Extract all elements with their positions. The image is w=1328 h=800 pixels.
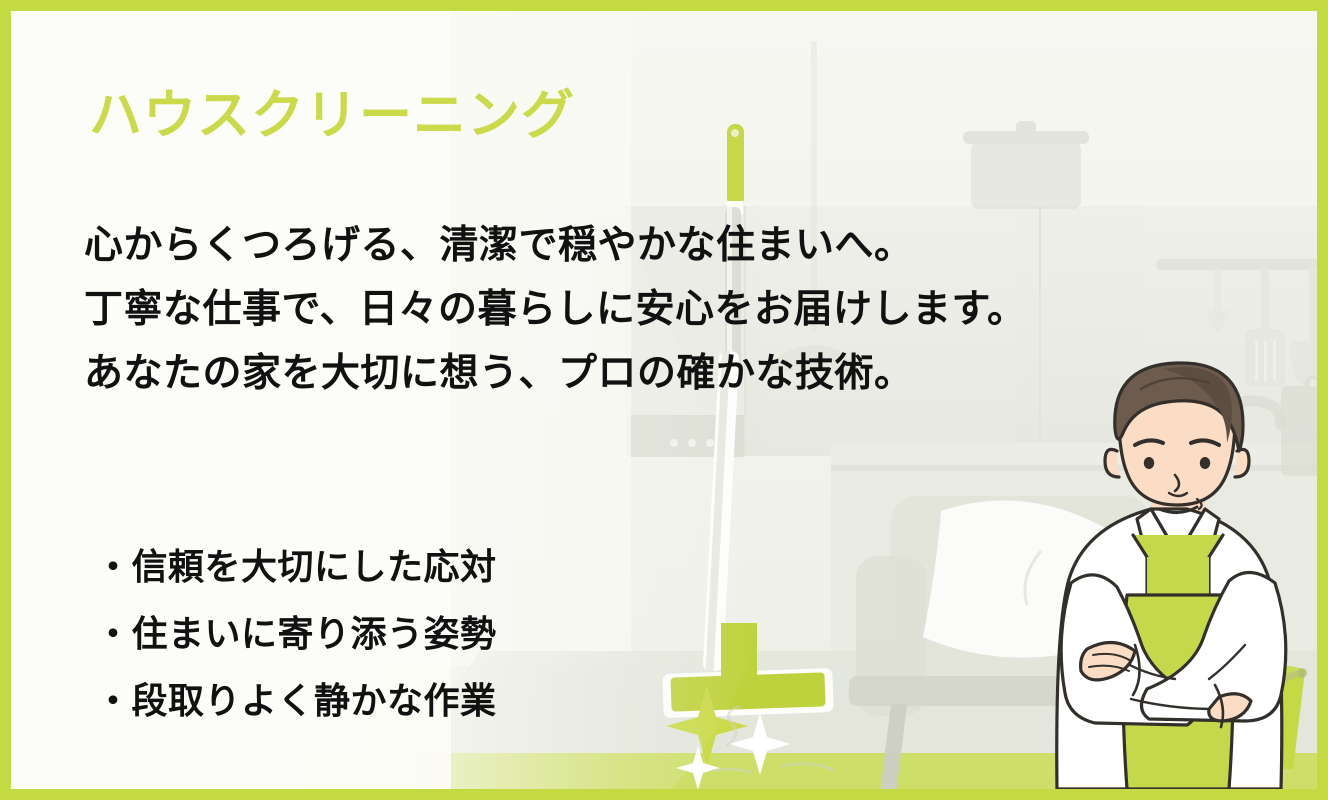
list-item: ・住まいに寄り添う姿勢	[95, 601, 497, 668]
lead-paragraph: 心からくつろげる、清潔で穏やかな住まいへ。 丁寧な仕事で、日々の暮らしに安心をお…	[84, 214, 1027, 406]
bullet-marker: ・	[95, 681, 132, 722]
cleaning-staff-illustration	[1023, 359, 1317, 789]
bullet-marker: ・	[95, 547, 132, 588]
bullet-marker: ・	[95, 614, 132, 655]
lead-line: 心からくつろげる、清潔で穏やかな住まいへ。	[84, 214, 1027, 278]
list-item-label: 住まいに寄り添う姿勢	[132, 614, 497, 655]
banner-frame: ハウスクリーニング 心からくつろげる、清潔で穏やかな住まいへ。 丁寧な仕事で、日…	[0, 0, 1328, 800]
lead-line: 丁寧な仕事で、日々の暮らしに安心をお届けします。	[84, 278, 1027, 342]
list-item: ・信頼を大切にした応対	[95, 534, 497, 601]
list-item-label: 段取りよく静かな作業	[132, 681, 497, 722]
list-item-label: 信頼を大切にした応対	[132, 547, 497, 588]
list-item: ・段取りよく静かな作業	[95, 668, 497, 735]
banner-inner: ハウスクリーニング 心からくつろげる、清潔で穏やかな住まいへ。 丁寧な仕事で、日…	[11, 11, 1317, 789]
page-title: ハウスクリーニング	[89, 73, 575, 149]
feature-list: ・信頼を大切にした応対 ・住まいに寄り添う姿勢 ・段取りよく静かな作業	[95, 534, 497, 735]
lead-line: あなたの家を大切に想う、プロの確かな技術。	[84, 342, 1027, 406]
